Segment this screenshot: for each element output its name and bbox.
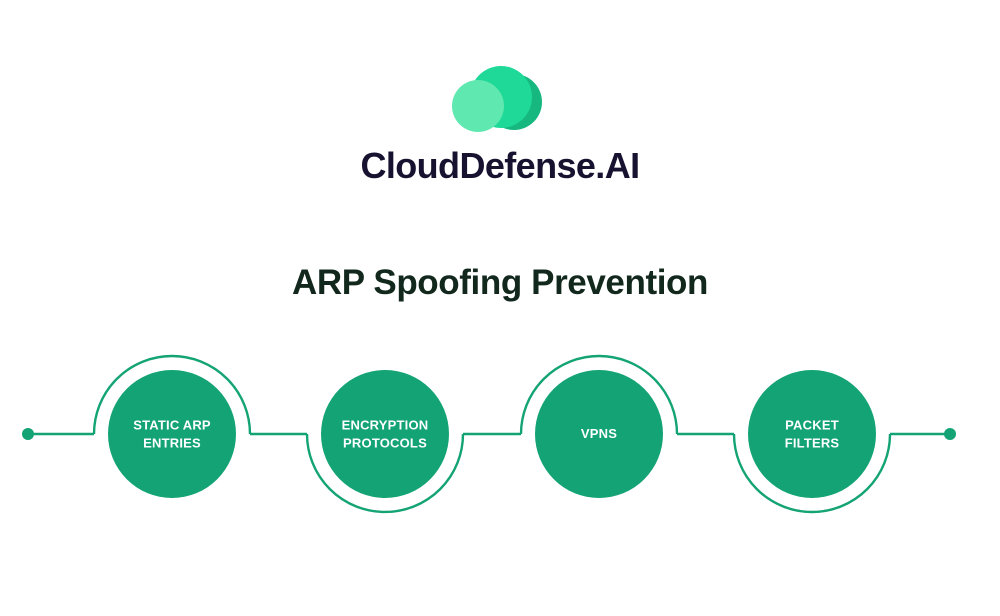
flow-diagram: STATIC ARPENTRIESENCRYPTIONPROTOCOLSVPNS…	[0, 330, 1000, 540]
brand-wordmark: CloudDefense.AI	[0, 148, 1000, 184]
node-label-line: VPNS	[529, 425, 669, 443]
flow-node-labels: STATIC ARPENTRIESENCRYPTIONPROTOCOLSVPNS…	[0, 330, 1000, 540]
brand-block: CloudDefense.AI	[0, 62, 1000, 184]
node-label-line: PACKET	[742, 416, 882, 434]
logo-circle-front	[452, 80, 504, 132]
node-label-line: STATIC ARP	[102, 416, 242, 434]
node-label-static-arp-entries[interactable]: STATIC ARPENTRIES	[102, 416, 242, 451]
node-label-vpns[interactable]: VPNS	[529, 425, 669, 443]
node-label-line: FILTERS	[742, 434, 882, 452]
infographic-canvas: CloudDefense.AI ARP Spoofing Prevention …	[0, 0, 1000, 616]
node-label-line: ENTRIES	[102, 434, 242, 452]
node-label-line: ENCRYPTION	[315, 416, 455, 434]
node-label-encryption-protocols[interactable]: ENCRYPTIONPROTOCOLS	[315, 416, 455, 451]
node-label-packet-filters[interactable]: PACKETFILTERS	[742, 416, 882, 451]
page-title: ARP Spoofing Prevention	[0, 262, 1000, 304]
node-label-line: PROTOCOLS	[315, 434, 455, 452]
clouddefense-logo-icon	[448, 62, 552, 134]
